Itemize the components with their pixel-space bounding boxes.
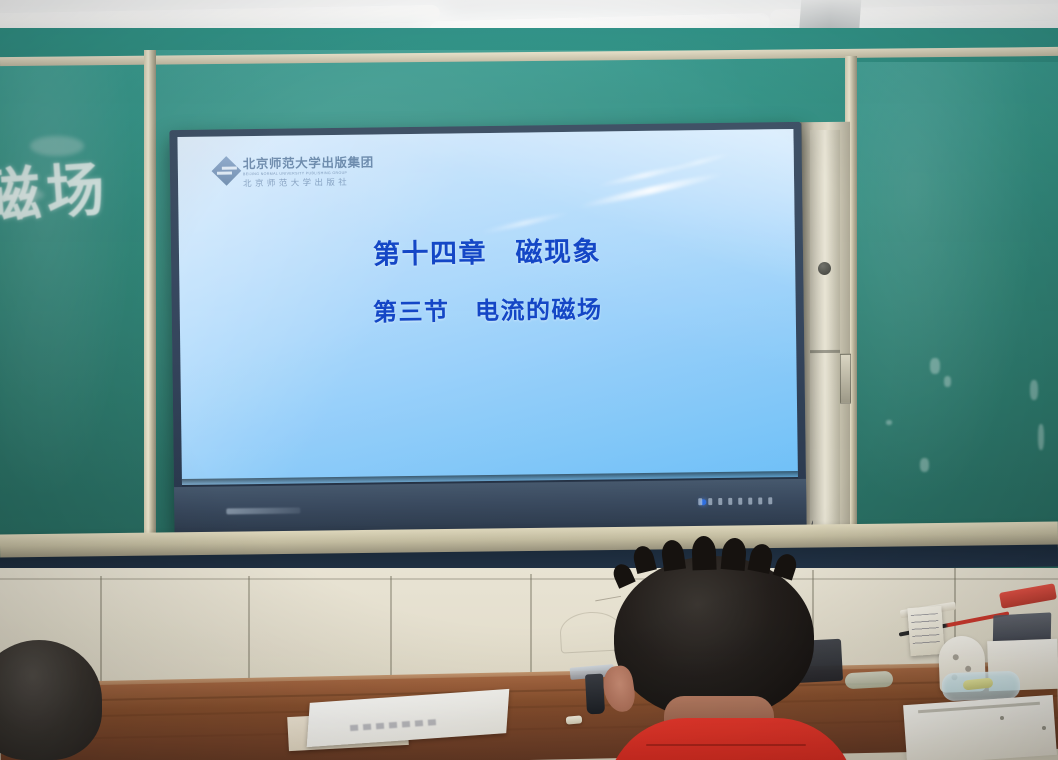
board-smudge bbox=[1038, 424, 1044, 450]
sliding-board-panel bbox=[810, 130, 840, 530]
display-screen[interactable]: 北京师范大学出版集团 BEIJING NORMAL UNIVERSITY PUB… bbox=[177, 129, 798, 485]
classroom-photo: 磁场 北京师范大学出版集团 BEIJING bbox=[0, 0, 1058, 760]
board-smudge bbox=[944, 376, 951, 387]
desk-grain bbox=[0, 717, 1058, 741]
hair-spike bbox=[691, 536, 716, 571]
ir-sensor-dot bbox=[758, 497, 762, 504]
ir-sensor-dot bbox=[718, 498, 722, 505]
board-smudge bbox=[886, 420, 892, 425]
chalk-dust bbox=[4, 188, 44, 202]
small-plastic-bag bbox=[845, 671, 894, 689]
ir-sensor-dot bbox=[708, 498, 712, 505]
blackboard-panel-left bbox=[0, 60, 150, 560]
publisher-name-en: BEIJING NORMAL UNIVERSITY PUBLISHING GRO… bbox=[243, 171, 374, 176]
sliding-board-track[interactable] bbox=[800, 122, 850, 541]
student-foreground bbox=[600, 556, 830, 760]
chalk-stick bbox=[566, 715, 583, 724]
bin-hole bbox=[1000, 716, 1004, 720]
ir-sensor-dot bbox=[748, 498, 752, 505]
hair-spike bbox=[610, 561, 635, 588]
stand-hole bbox=[965, 666, 971, 672]
student-head bbox=[0, 640, 102, 760]
ir-sensor-dot bbox=[728, 498, 732, 505]
publisher-name-cn: 北京师范大学出版集团 bbox=[243, 156, 374, 170]
sliding-board-knob-icon[interactable] bbox=[818, 262, 831, 275]
board-smudge bbox=[920, 458, 929, 472]
wall-seam bbox=[530, 574, 532, 680]
interactive-smart-display[interactable]: 北京师范大学出版集团 BEIJING NORMAL UNIVERSITY PUB… bbox=[169, 122, 806, 538]
screen-glare bbox=[577, 170, 725, 210]
publisher-subname-cn: 北京师范大学出版社 bbox=[243, 177, 374, 187]
ir-sensor-dot bbox=[768, 497, 772, 504]
sliding-board-latch[interactable] bbox=[840, 354, 851, 404]
wall-seam bbox=[390, 576, 392, 688]
display-brand-mark bbox=[226, 507, 300, 514]
stand-hole bbox=[953, 654, 959, 660]
blackboard-panel-right bbox=[852, 62, 1058, 567]
student-left-edge bbox=[0, 640, 116, 760]
chalk-dust bbox=[30, 136, 84, 156]
student-head bbox=[614, 556, 814, 718]
slide-section-title: 第三节 电流的磁场 bbox=[180, 287, 796, 330]
slide-title-block: 第十四章 磁现象 第三节 电流的磁场 bbox=[179, 227, 796, 330]
jacket-seam bbox=[646, 744, 806, 746]
slide-chapter-title: 第十四章 磁现象 bbox=[179, 227, 795, 274]
ir-sensor-array bbox=[698, 497, 772, 505]
note-card-writing bbox=[911, 613, 940, 649]
ir-sensor-dot bbox=[698, 498, 702, 505]
screen-glare bbox=[664, 151, 733, 173]
publisher-logo-text: 北京师范大学出版集团 BEIJING NORMAL UNIVERSITY PUB… bbox=[243, 156, 374, 187]
bin-hole bbox=[1042, 726, 1046, 730]
board-smudge bbox=[930, 358, 940, 374]
publisher-logo: 北京师范大学出版集团 BEIJING NORMAL UNIVERSITY PUB… bbox=[216, 156, 374, 187]
sliding-board-seam bbox=[810, 350, 840, 353]
diamond-logo-icon bbox=[212, 156, 242, 186]
student-red-jacket bbox=[606, 718, 856, 760]
ir-sensor-dot bbox=[738, 498, 742, 505]
board-smudge bbox=[1030, 380, 1038, 400]
board-frame-divider bbox=[144, 50, 156, 570]
wall-seam bbox=[0, 578, 1058, 580]
